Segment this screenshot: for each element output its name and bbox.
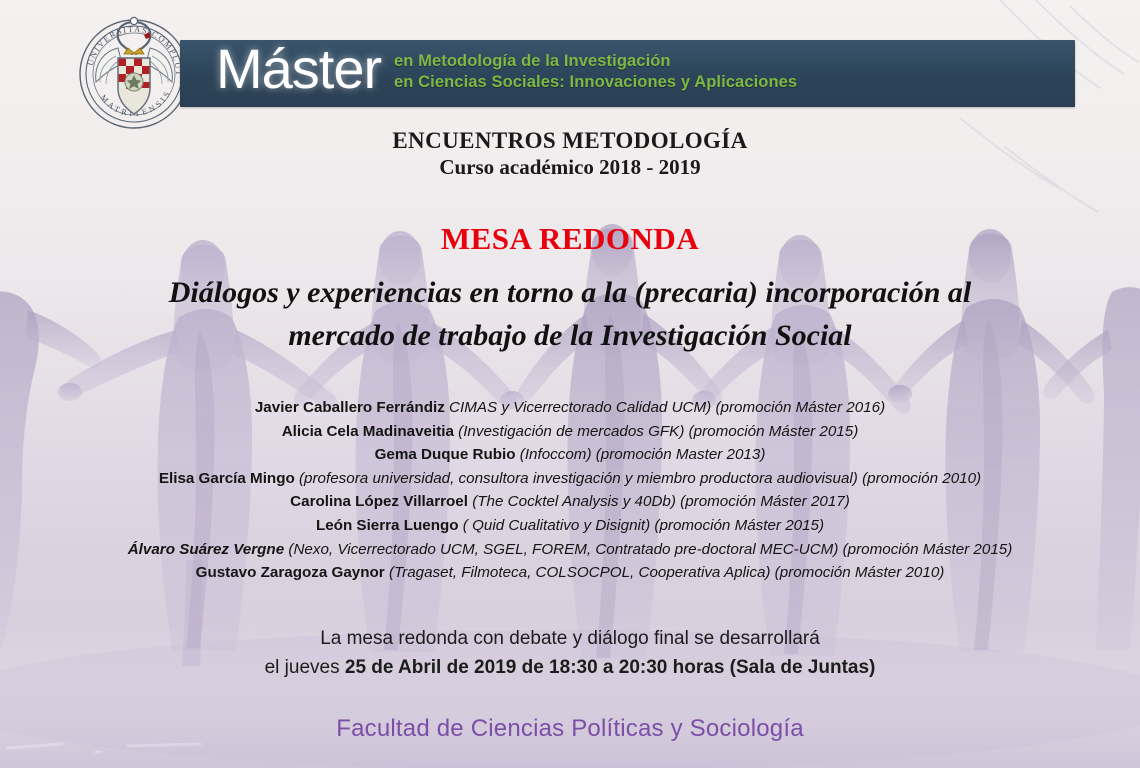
speaker-line: Álvaro Suárez Vergne (Nexo, Vicerrectora…	[0, 538, 1140, 562]
speakers-list: Javier Caballero Ferrándiz CIMAS y Vicer…	[0, 396, 1140, 585]
speaker-affiliation: ( Quid Cualitativo y Disignit) (promoció…	[463, 517, 824, 534]
speaker-name: Javier Caballero Ferrándiz	[255, 399, 445, 416]
speaker-name: Elisa García Mingo	[159, 470, 295, 487]
banner-program-lines: en Metodología de la Investigación en Ci…	[394, 51, 797, 93]
banner-line-2: en Ciencias Sociales: Innovaciones y Apl…	[394, 72, 797, 93]
poster-header: UNIVERSITAS COMPLUTENSIS MATRITENSIS	[72, 10, 1082, 130]
poster-subtitle: Diálogos y experiencias en torno a la (p…	[70, 271, 1070, 357]
speaker-affiliation: (Tragaset, Filmoteca, COLSOCPOL, Coopera…	[389, 564, 944, 581]
speaker-line: Carolina López Villarroel (The Cocktel A…	[0, 490, 1140, 514]
subtitle-line-1: Diálogos y experiencias en torno a la (p…	[70, 271, 1070, 314]
speaker-name: Gema Duque Rubio	[375, 446, 516, 463]
speaker-affiliation: (Infoccom) (promoción Master 2013)	[520, 446, 766, 463]
mesa-redonda-kicker: MESA REDONDA	[0, 221, 1140, 257]
speaker-line: Gema Duque Rubio (Infoccom) (promoción M…	[0, 443, 1140, 467]
schedule-line-2: el jueves 25 de Abril de 2019 de 18:30 a…	[0, 653, 1140, 682]
speaker-name: Álvaro Suárez Vergne	[128, 541, 284, 558]
speaker-affiliation: (profesora universidad, consultora inves…	[299, 470, 981, 487]
schedule-block: La mesa redonda con debate y diálogo fin…	[0, 624, 1140, 682]
speaker-name: Alicia Cela Madinaveitia	[282, 423, 454, 440]
speaker-name: León Sierra Luengo	[316, 517, 459, 534]
faculty-footer: Facultad de Ciencias Políticas y Sociolo…	[0, 715, 1140, 743]
banner-line-1: en Metodología de la Investigación	[394, 51, 797, 72]
speaker-affiliation: (The Cocktel Analysis y 40Db) (promoción…	[472, 493, 850, 510]
speaker-line: León Sierra Luengo ( Quid Cualitativo y …	[0, 514, 1140, 538]
master-banner: Máster en Metodología de la Investigació…	[180, 40, 1075, 107]
encuentros-heading: ENCUENTROS METODOLOGÍA	[0, 128, 1140, 154]
speaker-name: Gustavo Zaragoza Gaynor	[196, 564, 385, 581]
speaker-affiliation: (Nexo, Vicerrectorado UCM, SGEL, FOREM, …	[288, 541, 1012, 558]
schedule-prefix: el jueves	[265, 657, 345, 678]
curso-academico-heading: Curso académico 2018 - 2019	[0, 155, 1140, 180]
speaker-line: Gustavo Zaragoza Gaynor (Tragaset, Filmo…	[0, 561, 1140, 585]
speaker-name: Carolina López Villarroel	[290, 493, 468, 510]
subtitle-line-2: mercado de trabajo de la Investigación S…	[70, 314, 1070, 357]
banner-master-word: Máster	[216, 34, 381, 104]
speaker-line: Alicia Cela Madinaveitia (Investigación …	[0, 420, 1140, 444]
poster-canvas: UNIVERSITAS COMPLUTENSIS MATRITENSIS	[0, 0, 1140, 768]
speaker-affiliation: (Investigación de mercados GFK) (promoci…	[458, 423, 858, 440]
schedule-line-1: La mesa redonda con debate y diálogo fin…	[0, 624, 1140, 653]
speaker-line: Javier Caballero Ferrándiz CIMAS y Vicer…	[0, 396, 1140, 420]
ucm-seal-icon: UNIVERSITAS COMPLUTENSIS MATRITENSIS	[72, 12, 196, 132]
speaker-affiliation: CIMAS y Vicerrectorado Calidad UCM) (pro…	[449, 399, 885, 416]
schedule-datetime: 25 de Abril de 2019 de 18:30 a 20:30 hor…	[345, 657, 876, 678]
speaker-line: Elisa García Mingo (profesora universida…	[0, 467, 1140, 491]
